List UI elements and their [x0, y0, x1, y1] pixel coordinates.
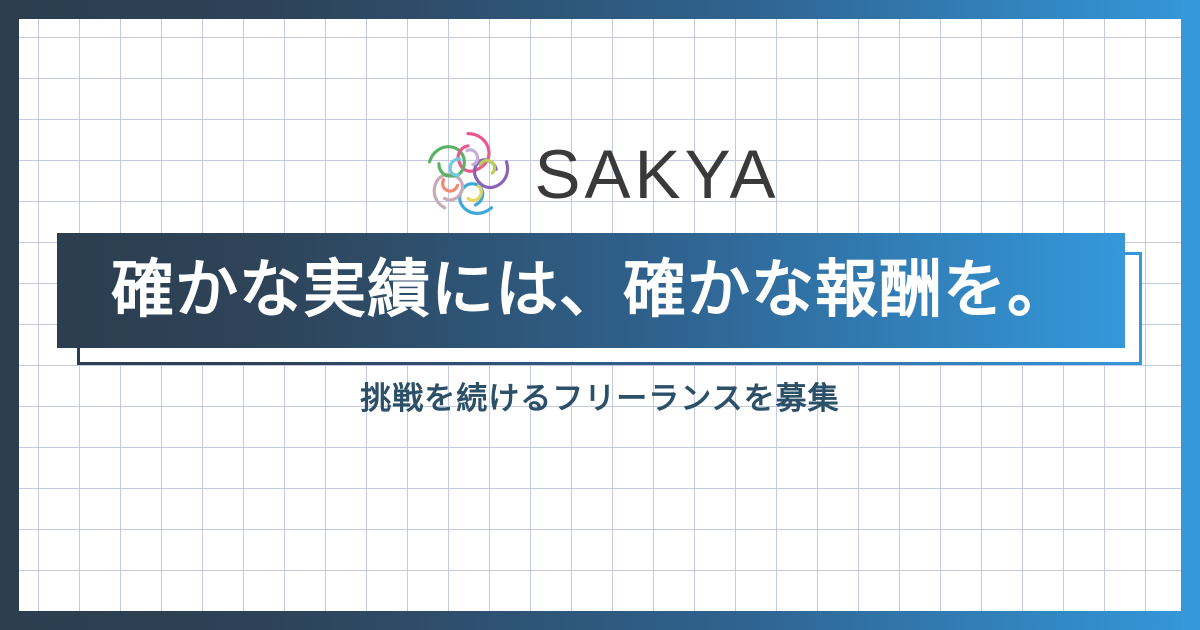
subtitle-text: 挑戦を続けるフリーランスを募集 — [360, 380, 839, 417]
sakya-pinwheel-logo-icon — [421, 128, 515, 220]
headline-band: 確かな実績には、確かな報酬を。 — [57, 233, 1125, 348]
brand-wordmark: SAKYA — [535, 140, 780, 209]
brand-lockup: SAKYA — [0, 126, 1200, 222]
frame-border-top — [0, 0, 1200, 19]
headline-text: 確かな実績には、確かな報酬を。 — [111, 259, 1071, 322]
subtitle-row: 挑戦を続けるフリーランスを募集 — [0, 380, 1200, 417]
promo-banner: SAKYA 確かな実績には、確かな報酬を。 挑戦を続けるフリーランスを募集 — [0, 0, 1200, 630]
frame-border-right — [1181, 0, 1200, 630]
frame-border-bottom — [0, 611, 1200, 630]
frame-border-left — [0, 0, 19, 630]
